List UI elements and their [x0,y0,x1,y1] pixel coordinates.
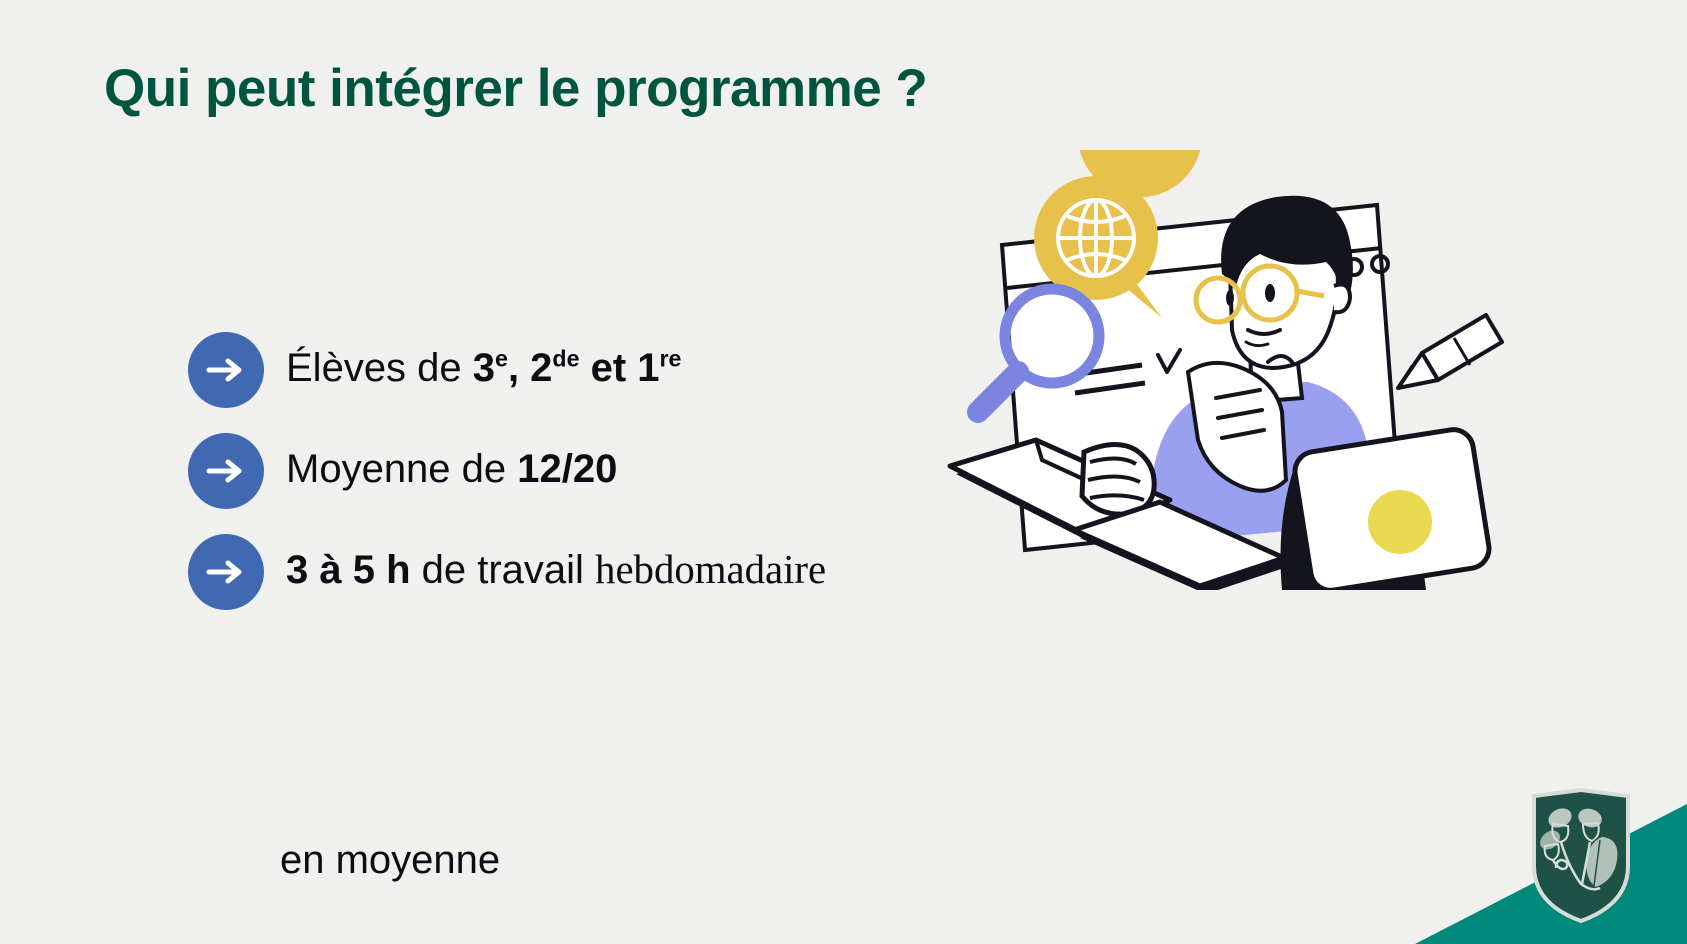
bullet-list: Élèves de 3e, 2de et 1re Moyenne de 12/2… [188,330,1018,633]
bullet-3-serif: hebdomadaire [595,547,826,592]
list-item-label-1: Élèves de 3e, 2de et 1re [286,330,681,406]
bullet-1-prefix: Élèves de [286,346,473,390]
list-item-label-2: Moyenne de 12/20 [286,431,617,507]
bullet-1-sup-2: de [552,346,579,372]
arrow-right-icon [188,433,264,509]
bullet-1-strong-1: 3 [473,346,495,390]
bullet-1-strong-2: 2 [530,346,552,390]
bullet-1-strong-3: 1 [637,346,659,390]
pencil-icon [1398,315,1502,388]
eye-right [1265,284,1275,302]
arrow-right-icon [188,534,264,610]
arrow-right-icon [188,332,264,408]
yellow-dot [1368,490,1432,554]
slide-root: Qui peut intégrer le programme ? [0,0,1687,944]
bullet-1-mid-1: , [508,346,530,390]
list-item[interactable]: 3 à 5 h de travail hebdomadaire en moyen… [188,532,1018,610]
bullet-2-strong: 12/20 [517,447,617,491]
bullet-1-sup-1: e [495,346,508,372]
list-item-label-3: 3 à 5 h de travail hebdomadaire [286,532,826,608]
eye-left [1226,290,1234,306]
bullet-1-mid-2: et [579,346,637,390]
bullet-3-mid: de travail [411,548,596,592]
bullet-2-prefix: Moyenne de [286,447,517,491]
bullet-3-second-line: en moyenne [280,838,500,883]
list-item[interactable]: Élèves de 3e, 2de et 1re [188,330,1018,408]
shield-acorn-logo [1528,788,1634,923]
card-with-yellow-dot [1292,427,1492,590]
globe-icon [1058,200,1134,276]
page-title: Qui peut intégrer le programme ? [104,58,927,119]
bullet-1-sup-3: re [660,346,682,372]
list-item[interactable]: Moyenne de 12/20 [188,431,1018,509]
bullet-3-strong: 3 à 5 h [286,548,411,592]
